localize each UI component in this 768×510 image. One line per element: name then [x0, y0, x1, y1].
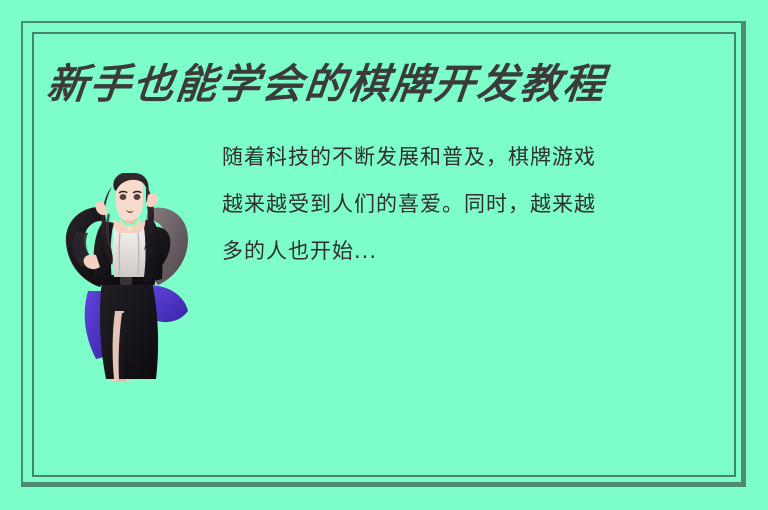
excerpt-line: 随着科技的不断发展和普及，棋牌游戏 — [222, 134, 722, 181]
article-illustration — [52, 173, 202, 385]
page-title: 新手也能学会的棋牌开发教程 — [44, 58, 608, 110]
excerpt-line: 多的人也开始... — [222, 228, 722, 275]
excerpt-line: 越来越受到人们的喜爱。同时，越来越 — [222, 181, 722, 228]
article-card: 新手也能学会的棋牌开发教程 — [0, 0, 768, 510]
article-excerpt: 随着科技的不断发展和普及，棋牌游戏 越来越受到人们的喜爱。同时，越来越 多的人也… — [222, 134, 722, 275]
